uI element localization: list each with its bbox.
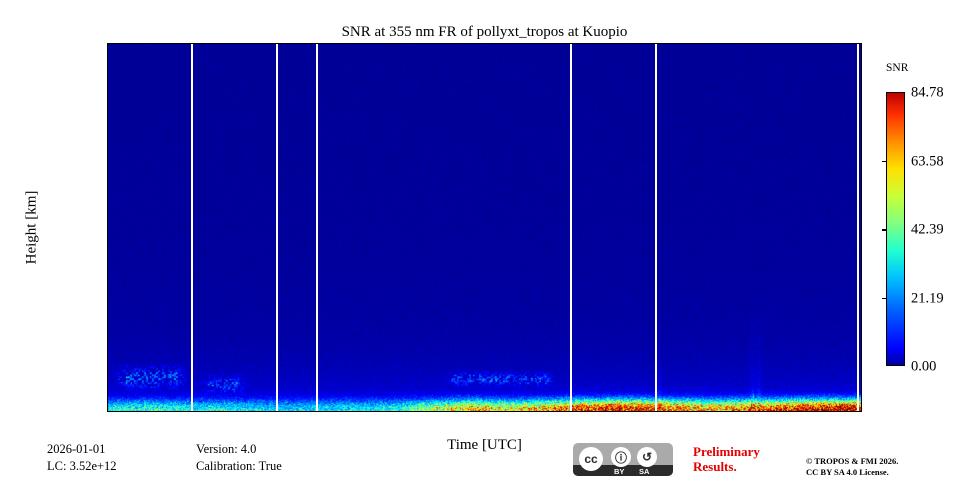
y-axis-tick	[107, 161, 108, 163]
y-axis-minor-tick	[107, 182, 108, 184]
y-axis-minor-tick	[107, 391, 108, 393]
colorbar-tick-label: 84.78	[911, 85, 944, 102]
colorbar-tick	[882, 161, 887, 163]
cc-attribution-icon: ⓘ	[611, 447, 631, 467]
colorbar-tick	[882, 298, 887, 300]
x-axis-tick	[533, 411, 535, 412]
colorbar: 0.0021.1942.3963.5884.78	[886, 92, 905, 366]
data-gap-line	[316, 44, 318, 411]
x-axis-minor-tick	[575, 411, 577, 412]
colorbar-tick	[882, 229, 887, 231]
y-axis-tick	[107, 119, 108, 121]
preliminary-line-1: Preliminary	[693, 444, 760, 459]
y-axis-minor-tick	[107, 307, 108, 309]
data-gap-line	[570, 44, 572, 411]
x-axis-tick	[448, 411, 450, 412]
x-axis-minor-tick	[235, 411, 237, 412]
data-gap-line	[655, 44, 657, 411]
x-axis-tick	[192, 411, 194, 412]
copyright-notice: © TROPOS & FMI 2026. CC BY SA 4.0 Licens…	[806, 456, 898, 478]
y-axis-label: Height [km]	[22, 43, 42, 412]
y-axis-tick	[107, 77, 108, 79]
y-axis-minor-tick	[107, 140, 108, 142]
y-axis-tick	[107, 203, 108, 205]
y-axis-minor-tick	[107, 98, 108, 100]
preliminary-line-2: Results.	[693, 459, 760, 474]
y-axis-label-text: Height [km]	[24, 191, 41, 265]
x-axis-minor-tick	[745, 411, 747, 412]
lidar-quicklook-figure: SNR at 355 nm FR of pollyxt_tropos at Ku…	[0, 0, 960, 480]
footer-calibration: Calibration: True	[196, 459, 282, 474]
preliminary-results-notice: Preliminary Results.	[693, 444, 760, 474]
y-axis-minor-tick	[107, 224, 108, 226]
copyright-line-2: CC BY SA 4.0 License.	[806, 467, 898, 478]
y-axis-tick	[107, 245, 108, 247]
y-axis-minor-tick	[107, 56, 108, 58]
x-axis-minor-tick	[660, 411, 662, 412]
colorbar-tick-label: 0.00	[911, 359, 936, 376]
page-title: SNR at 355 nm FR of pollyxt_tropos at Ku…	[107, 24, 862, 41]
x-axis-minor-tick	[150, 411, 152, 412]
x-axis-minor-tick	[320, 411, 322, 412]
colorbar-tick-label: 63.58	[911, 153, 944, 170]
cc-sharealike-icon: ↺	[637, 447, 657, 467]
y-axis-tick	[107, 328, 108, 330]
x-axis-tick	[107, 411, 109, 412]
colorbar-title: SNR	[886, 62, 946, 74]
x-axis-tick	[362, 411, 364, 412]
x-axis-minor-tick	[490, 411, 492, 412]
copyright-line-1: © TROPOS & FMI 2026.	[806, 456, 898, 467]
snr-heatmap-canvas	[108, 44, 861, 411]
footer-lidar-constant: LC: 3.52e+12	[47, 459, 117, 474]
x-axis-tick	[618, 411, 620, 412]
creative-commons-badge-icon: cc ⓘ ↺ BY SA	[573, 443, 673, 476]
footer-version: Version: 4.0	[196, 442, 256, 457]
x-axis-tick	[703, 411, 705, 412]
data-gap-line	[857, 44, 859, 411]
y-axis-minor-tick	[107, 349, 108, 351]
colorbar-tick-label: 42.39	[911, 222, 944, 239]
y-axis-minor-tick	[107, 265, 108, 267]
colorbar-tick-label: 21.19	[911, 290, 944, 307]
x-axis-tick	[788, 411, 790, 412]
data-gap-line	[276, 44, 278, 411]
x-axis-tick	[277, 411, 279, 412]
y-axis-tick	[107, 286, 108, 288]
cc-by-label: BY	[614, 467, 624, 476]
x-axis-minor-tick	[830, 411, 832, 412]
y-axis-tick	[107, 370, 108, 372]
heatmap-plot-area: 2.55.07.510.012.515.017.520.000:0002:000…	[107, 43, 862, 412]
x-axis-minor-tick	[405, 411, 407, 412]
cc-sa-label: SA	[639, 467, 649, 476]
footer-date: 2026-01-01	[47, 442, 105, 457]
data-gap-line	[191, 44, 193, 411]
cc-logo-icon: cc	[579, 447, 603, 471]
